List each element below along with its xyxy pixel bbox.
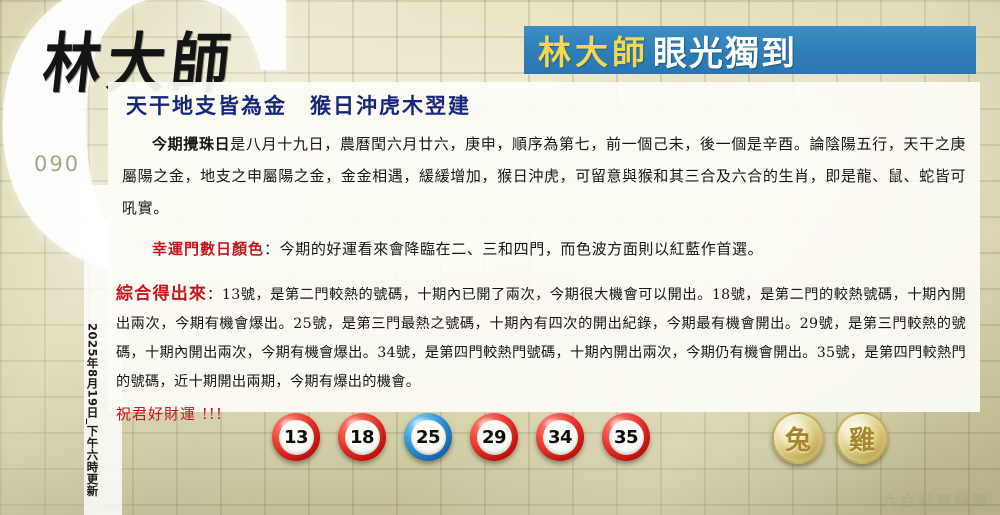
zodiac-coin: 兔 <box>772 412 824 464</box>
article-headline: 天干地支皆為金 猴日沖虎木翌建 <box>126 90 980 120</box>
paragraph-body-text: 是八月十九日，農曆閏六月廿六，庚申，順序為第七，前一個己未，後一個是辛酉。論陰陽… <box>122 135 966 217</box>
banner-slogan-text: 眼光獨到 <box>653 26 797 74</box>
zodiac-coin-char: 雞 <box>849 420 875 457</box>
number-ball: 13 <box>272 413 320 461</box>
conclusion-text: ：13號，是第二門較熱的號碼，十期內已開了兩次，今期很大機會可以開出。18號，是… <box>116 287 966 390</box>
number-ball-value: 35 <box>609 420 644 455</box>
article-paragraph-1: 今期攪珠日是八月十九日，農曆閏六月廿六，庚申，順序為第七，前一個己未，後一個是辛… <box>122 128 966 224</box>
predicted-numbers-row: 13 18 25 29 34 35 <box>272 413 650 461</box>
article-card: 天干地支皆為金 猴日沖虎木翌建 今期攪珠日是八月十九日，農曆閏六月廿六，庚申，順… <box>108 82 980 412</box>
zodiac-coin: 雞 <box>836 412 888 464</box>
footer-watermark: 六合彩資料庫 <box>882 490 990 511</box>
number-ball: 29 <box>470 413 518 461</box>
number-ball-value: 25 <box>411 420 446 455</box>
update-date-label: 2025年8月19日_下午六時更新 <box>86 323 98 497</box>
number-ball: 18 <box>338 413 386 461</box>
lottery-tip-poster: G 090 2025年8月19日_下午六時更新 林大師 林大師 眼光獨到 天干地… <box>0 0 1000 515</box>
brand-banner: 林大師 眼光獨到 <box>524 26 976 74</box>
zodiac-coin-char: 兔 <box>785 420 811 457</box>
lucky-numbers-paragraph: 幸運門數日顏色：今期的好運看來會降臨在二、三和四門，而色波方面則以紅藍作首選。 <box>122 234 966 264</box>
number-ball-value: 18 <box>345 420 380 455</box>
conclusion-paragraph: 綜合得出來：13號，是第二門較熱的號碼，十期內已開了兩次，今期很大機會可以開出。… <box>116 280 966 397</box>
number-ball: 25 <box>404 413 452 461</box>
lucky-text: ：今期的好運看來會降臨在二、三和四門，而色波方面則以紅藍作首選。 <box>264 240 763 258</box>
paragraph-lead-phrase: 今期攪珠日 <box>152 135 230 153</box>
banner-brand-text: 林大師 <box>538 26 649 74</box>
number-ball-value: 34 <box>543 420 578 455</box>
issue-number: 090 <box>34 152 80 176</box>
lucky-label: 幸運門數日顏色 <box>152 240 264 258</box>
number-ball: 34 <box>536 413 584 461</box>
conclusion-label: 綜合得出來 <box>116 284 207 304</box>
number-ball-value: 13 <box>279 420 314 455</box>
zodiac-coins-row: 兔 雞 <box>772 412 888 464</box>
number-ball: 35 <box>602 413 650 461</box>
number-ball-value: 29 <box>477 420 512 455</box>
